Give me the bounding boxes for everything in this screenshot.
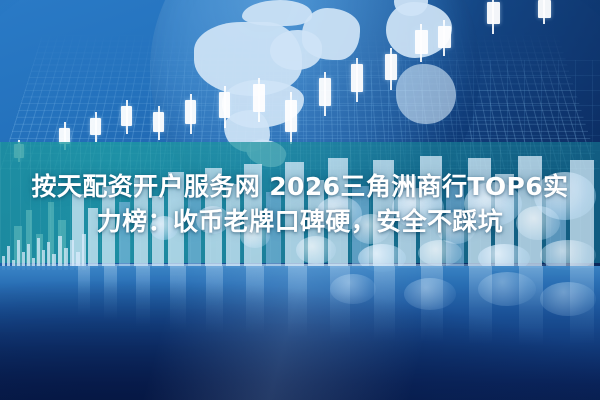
finance-banner: 按天配资开户服务网 2026三角洲商行TOP6实力榜：收币老牌口碑硬，安全不踩坑 [0, 0, 600, 400]
vignette-overlay [0, 0, 600, 400]
